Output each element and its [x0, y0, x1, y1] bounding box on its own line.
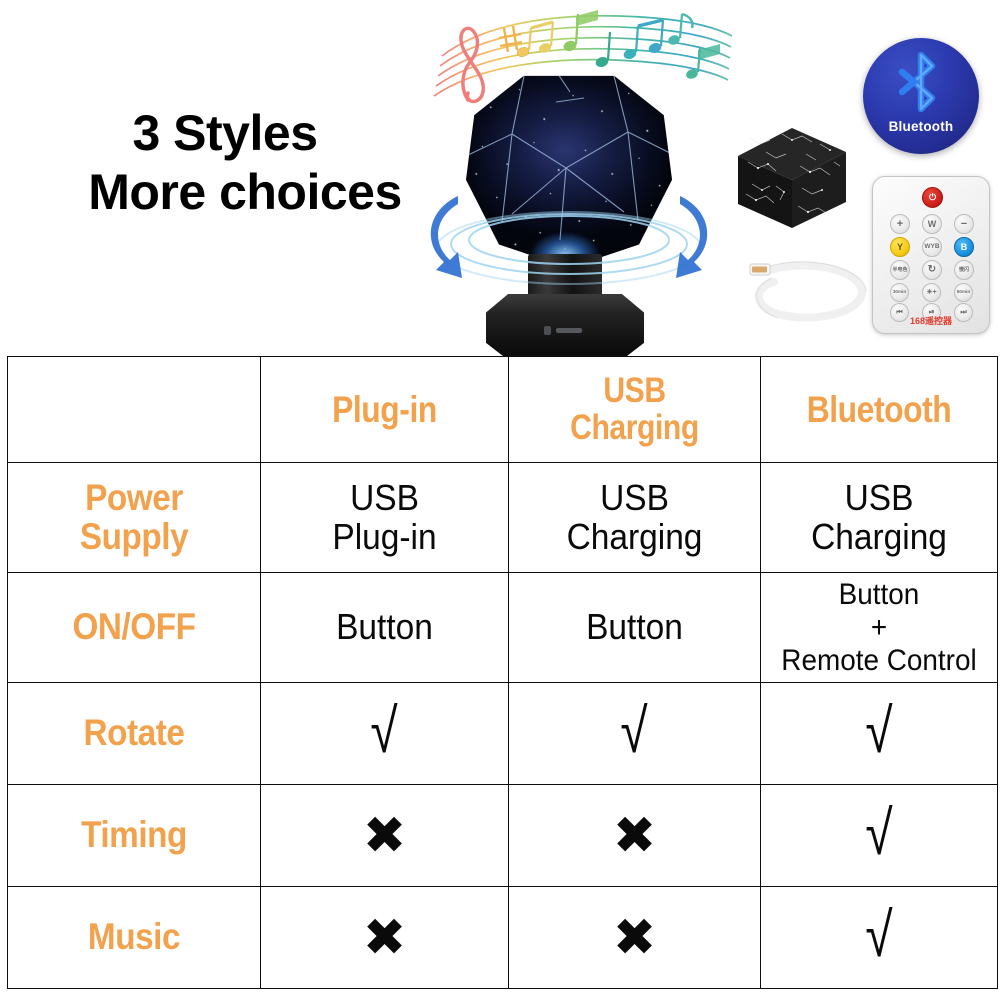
- row-label-timing: Timing: [8, 785, 261, 887]
- table-row-music: Music ✖ ✖ √: [8, 887, 998, 989]
- check-icon: √: [371, 701, 398, 763]
- remote-wyb-button[interactable]: WYB: [922, 237, 942, 257]
- check-icon: √: [865, 803, 892, 865]
- table-row-timing: Timing ✖ ✖ √: [8, 785, 998, 887]
- cross-icon: ✖: [363, 912, 407, 964]
- remote-plus-button[interactable]: +: [890, 214, 910, 234]
- remote-yellow-button[interactable]: Y: [890, 237, 910, 257]
- row-label-power-supply-line1: Power: [24, 479, 244, 518]
- usb-cable-image: [744, 248, 876, 332]
- remote-power-button[interactable]: ⏻: [922, 187, 943, 208]
- row-label-music: Music: [8, 887, 261, 989]
- cell-power-supply-bluetooth: USB Charging: [761, 463, 998, 573]
- column-header-plugin-label: Plug-in: [282, 391, 488, 428]
- cell-timing-plugin: ✖: [261, 785, 509, 887]
- row-label-on-off-text: ON/OFF: [24, 608, 244, 647]
- column-header-usb-charging-line2: Charging: [530, 410, 739, 446]
- page-title: 3 Styles More choices: [45, 104, 445, 222]
- column-header-plugin: Plug-in: [261, 357, 509, 463]
- cell-timing-usb-charging: ✖: [509, 785, 761, 887]
- cell-rotate-bluetooth: √: [761, 683, 998, 785]
- column-header-bluetooth-label: Bluetooth: [781, 391, 977, 428]
- remote-blue-button[interactable]: B: [954, 237, 974, 257]
- rotation-arrows-icon: [424, 182, 714, 302]
- bluetooth-badge: Bluetooth: [863, 38, 979, 154]
- table-row-power-supply: Power Supply USB Plug-in USB Charging US…: [8, 463, 998, 573]
- cell-on-off-plugin-text: Button: [273, 608, 495, 647]
- column-header-usb-charging-line1: USB: [530, 373, 739, 409]
- remote-minus-button[interactable]: −: [954, 214, 974, 234]
- cross-icon: ✖: [613, 912, 657, 964]
- lamp-usb-port: [556, 328, 582, 333]
- check-icon: √: [865, 905, 892, 967]
- remote-brightness-up-button[interactable]: ☀+: [922, 283, 941, 302]
- retail-box-image: [736, 126, 848, 230]
- cell-on-off-usb-charging-text: Button: [522, 608, 748, 647]
- cell-power-supply-plugin: USB Plug-in: [261, 463, 509, 573]
- remote-control-image: ⏻ + W − Y WYB B 半电色 ↻ 慢闪 30min ☀+ 60min …: [872, 176, 990, 334]
- product-hero-banner: 3 Styles More choices: [0, 0, 1000, 356]
- row-label-timing-text: Timing: [24, 816, 244, 855]
- cell-on-off-bluetooth-line3: Remote Control: [773, 644, 985, 677]
- remote-rotate-button[interactable]: ↻: [922, 260, 942, 280]
- remote-color-mode-button[interactable]: 半电色: [890, 260, 910, 280]
- cross-icon: ✖: [363, 810, 407, 862]
- cell-rotate-plugin: √: [261, 683, 509, 785]
- remote-timer-30min-button[interactable]: 30min: [890, 283, 909, 302]
- cell-power-supply-plugin-line2: Plug-in: [273, 518, 495, 557]
- cell-music-bluetooth: √: [761, 887, 998, 989]
- cell-rotate-usb-charging: √: [509, 683, 761, 785]
- row-label-on-off: ON/OFF: [8, 573, 261, 683]
- comparison-table-container: Plug-in USB Charging Bluetooth Power Sup…: [7, 356, 997, 986]
- cell-on-off-plugin: Button: [261, 573, 509, 683]
- row-label-power-supply-line2: Supply: [24, 518, 244, 557]
- headline-line-1: 3 Styles: [45, 104, 445, 163]
- cell-power-supply-usb-charging-line1: USB: [522, 479, 748, 518]
- remote-model-label: 168遥控器: [873, 314, 989, 327]
- comparison-table: Plug-in USB Charging Bluetooth Power Sup…: [7, 356, 998, 989]
- lamp-base: [486, 294, 644, 356]
- table-row-on-off: ON/OFF Button Button Button + Remote Con…: [8, 573, 998, 683]
- cell-on-off-bluetooth-line2: +: [773, 611, 985, 644]
- headline-line-2: More choices: [45, 163, 445, 222]
- star-projector-lamp-image: [444, 72, 694, 356]
- cell-on-off-usb-charging: Button: [509, 573, 761, 683]
- cell-power-supply-bluetooth-line1: USB: [773, 479, 985, 518]
- cell-timing-bluetooth: √: [761, 785, 998, 887]
- column-header-bluetooth: Bluetooth: [761, 357, 998, 463]
- row-label-rotate-text: Rotate: [24, 714, 244, 753]
- cell-on-off-bluetooth: Button + Remote Control: [761, 573, 998, 683]
- table-row-rotate: Rotate √ √ √: [8, 683, 998, 785]
- bluetooth-icon: [894, 48, 948, 116]
- cell-power-supply-plugin-line1: USB: [273, 479, 495, 518]
- table-corner-cell: [8, 357, 261, 463]
- row-label-power-supply: Power Supply: [8, 463, 261, 573]
- check-icon: √: [865, 701, 892, 763]
- rotation-arrow-right: [676, 196, 707, 278]
- cell-power-supply-usb-charging-line2: Charging: [522, 518, 748, 557]
- cell-power-supply-bluetooth-line2: Charging: [773, 518, 985, 557]
- cell-on-off-bluetooth-line1: Button: [773, 578, 985, 611]
- cell-music-usb-charging: ✖: [509, 887, 761, 989]
- row-label-music-text: Music: [24, 918, 244, 957]
- remote-w-button[interactable]: W: [922, 214, 942, 234]
- bluetooth-badge-label: Bluetooth: [863, 119, 979, 134]
- cell-power-supply-usb-charging: USB Charging: [509, 463, 761, 573]
- column-header-usb-charging: USB Charging: [509, 357, 761, 463]
- remote-flash-button[interactable]: 慢闪: [954, 260, 974, 280]
- row-label-rotate: Rotate: [8, 683, 261, 785]
- cell-music-plugin: ✖: [261, 887, 509, 989]
- table-header-row: Plug-in USB Charging Bluetooth: [8, 357, 998, 463]
- lamp-power-button[interactable]: [544, 326, 551, 335]
- cross-icon: ✖: [613, 810, 657, 862]
- check-icon: √: [621, 701, 648, 763]
- rotation-arrow-left: [431, 196, 462, 278]
- remote-timer-60min-button[interactable]: 60min: [954, 283, 973, 302]
